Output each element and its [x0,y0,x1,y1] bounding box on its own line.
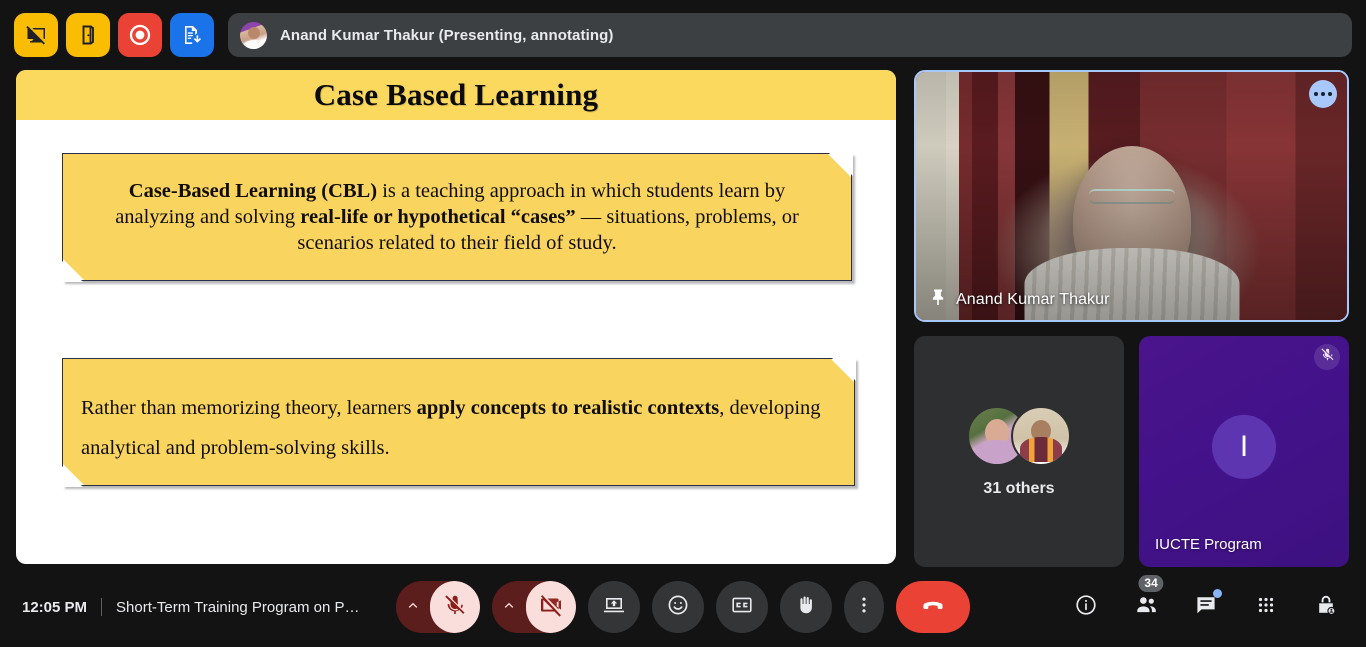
save-notes-button[interactable] [170,13,214,57]
people-icon [1134,592,1159,622]
phone-hangup-icon [919,591,947,624]
slide-title-band: Case Based Learning [16,70,896,120]
captions-button[interactable] [716,581,768,633]
camera-off-icon [539,593,563,622]
present-now-button[interactable] [588,581,640,633]
leave-door-icon [76,23,100,47]
camera-options-button[interactable] [492,581,526,633]
leave-presentation-button[interactable] [66,13,110,57]
mic-off-icon [443,593,467,622]
video-tile-presenter[interactable]: Anand Kumar Thakur [914,70,1349,322]
record-icon [128,23,152,47]
page-title: Case Based Learning [314,77,599,113]
bottom-bar: 12:05 PM Short-Term Training Program on … [0,567,1366,647]
camera-control-group [492,581,576,633]
mic-off-icon [1320,347,1335,367]
chat-button[interactable] [1184,585,1228,629]
microphone-muted-button[interactable] [430,581,480,633]
presenter-avatar [240,22,267,49]
emoji-smile-icon [666,593,690,622]
slide-callout-definition: Case-Based Learning (CBL) is a teaching … [62,153,852,281]
notch-top-right [831,359,854,382]
camera-muted-button[interactable] [526,581,576,633]
right-controls: 34 [1064,585,1348,629]
notch-top-right [828,154,851,177]
mic-muted-badge [1314,344,1340,370]
avatar [1011,406,1071,466]
divider [101,598,102,616]
chat-unread-dot [1213,589,1222,598]
tile-participant-name: Anand Kumar Thakur [956,291,1110,309]
recording-indicator-button[interactable] [118,13,162,57]
microphone-options-button[interactable] [396,581,430,633]
chevron-up-icon [501,597,517,618]
meeting-details-button[interactable] [1064,585,1108,629]
stop-presenting-button[interactable] [14,13,58,57]
others-count-label: 31 others [983,480,1054,498]
present-screen-icon [602,593,626,622]
raised-hand-icon [794,593,818,622]
dot [1328,92,1332,96]
document-save-icon [180,23,204,47]
clock-label: 12:05 PM [22,599,87,616]
dot [1314,92,1318,96]
video-tile-others[interactable]: 31 others [914,336,1124,567]
host-controls-button[interactable] [1304,585,1348,629]
notch-bottom-left [63,464,84,485]
callout2-lead: Rather than memorizing theory, learners [81,397,417,419]
video-tile-iucte[interactable]: I IUCTE Program [1139,336,1349,567]
tile-name-row: Anand Kumar Thakur [930,288,1110,311]
closed-captions-icon [730,593,754,622]
raise-hand-button[interactable] [780,581,832,633]
more-options-button[interactable] [844,581,884,633]
notch-bottom-left [63,259,84,280]
video-gradient-overlay [916,72,1347,320]
apps-grid-icon [1255,594,1277,621]
people-count-badge: 34 [1138,575,1163,592]
microphone-control-group [396,581,480,633]
tile-participant-name: IUCTE Program [1155,536,1262,553]
meeting-info-group: 12:05 PM Short-Term Training Program on … [22,598,359,616]
dot [1321,92,1325,96]
more-vertical-icon [853,594,875,621]
emoji-reaction-button[interactable] [652,581,704,633]
presenter-name: Anand Kumar Thakur (Presenting, annotati… [280,27,614,44]
slide-callout-application: Rather than memorizing theory, learners … [62,358,855,486]
callout1-bold2: real-life or hypothetical “cases” [300,206,575,228]
avatar-stack [967,406,1071,466]
top-bar: Anand Kumar Thakur (Presenting, annotati… [0,0,1366,70]
chevron-up-icon [405,597,421,618]
call-controls [396,581,970,633]
activities-button[interactable] [1244,585,1288,629]
presenter-status-pill: Anand Kumar Thakur (Presenting, annotati… [228,13,1352,57]
lock-person-icon [1314,593,1338,622]
callout2-bold: apply concepts to realistic contexts [417,397,720,419]
presentation-slide[interactable]: Case Based Learning Case-Based Learning … [16,70,896,564]
participant-initial-avatar: I [1212,414,1276,478]
tile-more-options-button[interactable] [1309,80,1337,108]
pin-icon [930,288,946,311]
meeting-title-label: Short-Term Training Program on P… [116,599,359,616]
leave-call-button[interactable] [896,581,970,633]
people-button[interactable]: 34 [1124,585,1168,629]
info-icon [1074,593,1098,622]
stop-presenting-icon [24,23,48,47]
callout1-lead: Case-Based Learning (CBL) [129,180,377,202]
